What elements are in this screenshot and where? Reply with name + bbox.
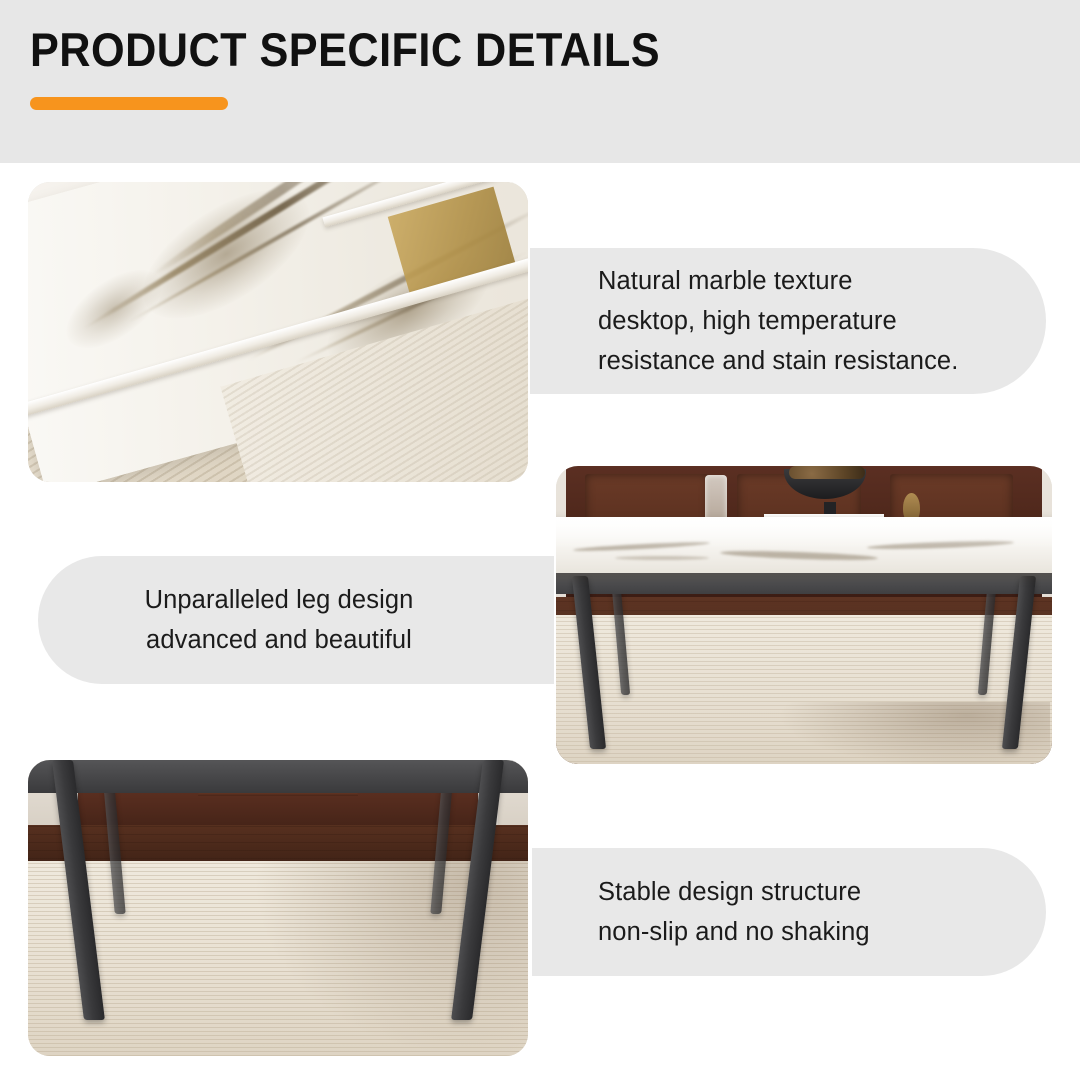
- decor-bowl-contents: [789, 466, 865, 479]
- caption-line: desktop, high temperature: [598, 301, 1046, 341]
- caption-line: Natural marble texture: [598, 261, 1046, 301]
- caption-line: non-slip and no shaking: [598, 912, 1046, 952]
- marble-blotch: [122, 182, 330, 344]
- feature-caption-marble-desktop: Natural marble texture desktop, high tem…: [530, 248, 1046, 394]
- feature-caption-stable-structure: Stable design structure non-slip and no …: [532, 848, 1046, 976]
- feature-caption-leg-design: Unparalleled leg design advanced and bea…: [38, 556, 554, 684]
- feature-image-stable-structure: [28, 760, 528, 1056]
- tabletop-gloss: [556, 517, 1052, 574]
- title-accent-rule: [30, 97, 228, 110]
- table-apron: [28, 760, 528, 793]
- table-apron: [556, 573, 1052, 594]
- legs-closeup-scene: [28, 760, 528, 1056]
- caption-line: resistance and stain resistance.: [598, 341, 1046, 381]
- marble-photo-scene: [28, 182, 528, 482]
- caption-line: Unparalleled leg design: [145, 580, 414, 620]
- marble-tabletop: [556, 517, 1052, 574]
- feature-image-leg-design: [556, 466, 1052, 764]
- page-title: PRODUCT SPECIFIC DETAILS: [30, 22, 660, 78]
- feature-image-marble-desktop: [28, 182, 528, 482]
- caption-line: advanced and beautiful: [146, 620, 412, 660]
- caption-line: Stable design structure: [598, 872, 1046, 912]
- room-scene: [556, 466, 1052, 764]
